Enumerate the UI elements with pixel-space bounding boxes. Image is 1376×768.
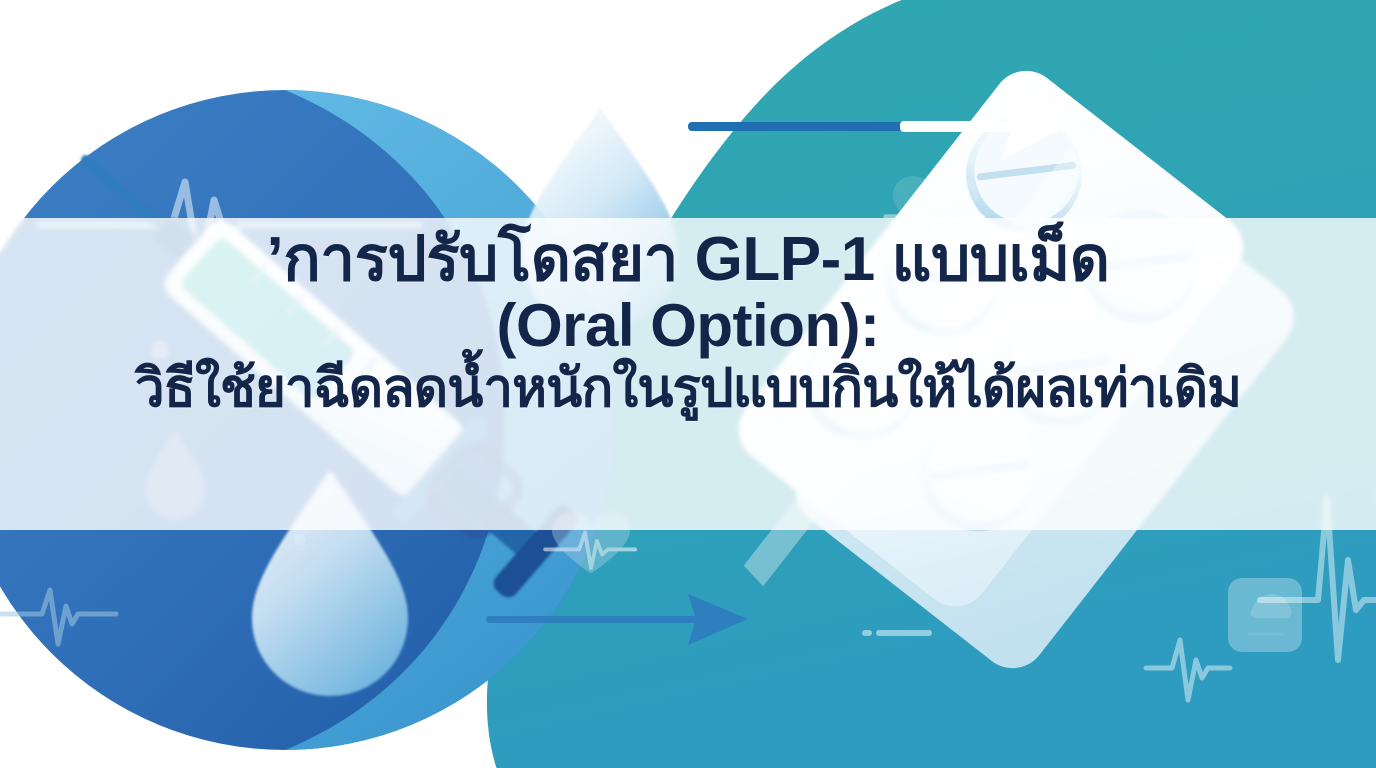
- weight-scale-icon: [1228, 578, 1302, 652]
- title-band-overlay: [0, 218, 1376, 530]
- promo-banner: ’การปรับโดสยา GLP-1 แบบเม็ด (Oral Option…: [0, 0, 1376, 768]
